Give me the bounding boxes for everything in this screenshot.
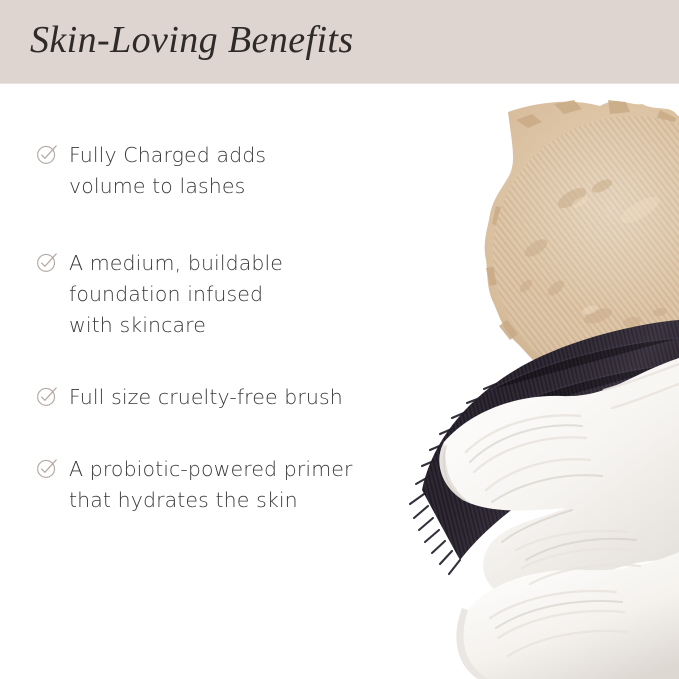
list-item-label: A medium, buildable foundation infused w… [69,248,283,341]
page-title: Skin-Loving Benefits [30,18,354,62]
list-item-label: Fully Charged adds volume to lashes [69,140,266,202]
header-band: Skin-Loving Benefits [0,0,679,84]
list-item-label: A probiotic-powered primer that hydrates… [69,454,353,516]
product-swatch-artwork [340,90,679,679]
check-circle-icon [36,457,58,479]
product-benefits-infographic: Skin-Loving Benefits Fully Charged adds … [0,0,679,679]
check-circle-icon [36,385,58,407]
check-circle-icon [36,143,58,165]
list-item-label: Full size cruelty-free brush [69,382,343,413]
list-item: Fully Charged adds volume to lashes [36,140,266,202]
check-circle-icon [36,251,58,273]
list-item: A medium, buildable foundation infused w… [36,248,283,341]
list-item: A probiotic-powered primer that hydrates… [36,454,353,516]
list-item: Full size cruelty-free brush [36,382,343,413]
